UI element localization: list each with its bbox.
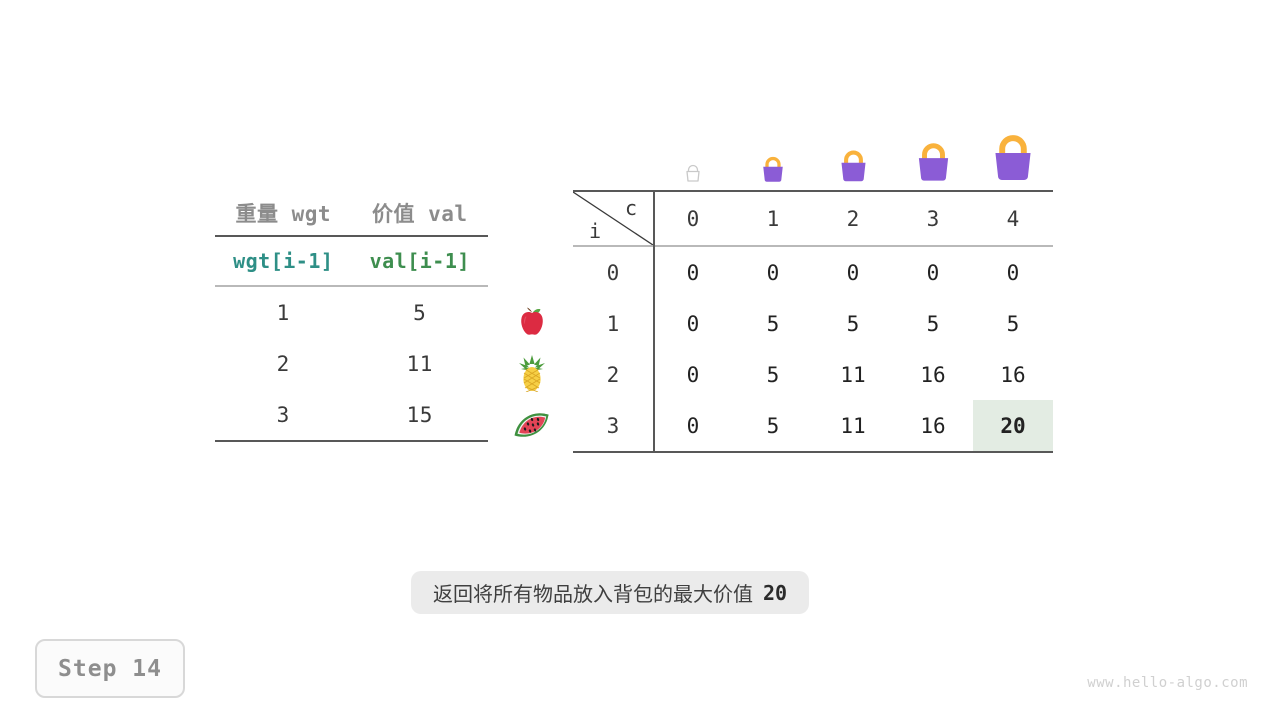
- watermark: www.hello-algo.com: [1087, 675, 1248, 691]
- item-wgt-value: 1: [215, 301, 352, 325]
- bag-icon-size-2: [813, 147, 893, 184]
- dp-cell: 0: [653, 247, 733, 298]
- dp-cell: 5: [973, 298, 1053, 349]
- dp-table-row: 2 0 5 11 16 16: [573, 349, 1053, 400]
- item-table-header-row: 重量 wgt 价值 val: [215, 190, 488, 235]
- item-fruit-column: [508, 296, 556, 449]
- dp-table-header-row: i c 0 1 2 3 4: [573, 192, 1053, 245]
- item-wgt-value: 2: [215, 352, 352, 376]
- item-table-row: 3 15: [215, 389, 488, 440]
- dp-col-header: 1: [733, 207, 813, 231]
- dp-cell: 16: [973, 349, 1053, 400]
- item-table-row: 2 11: [215, 338, 488, 389]
- item-val-value: 11: [352, 352, 489, 376]
- dp-row-header: 0: [573, 261, 653, 285]
- item-val-value: 5: [352, 301, 489, 325]
- dp-row-header: 1: [573, 312, 653, 336]
- item-table-header-val: 价值 val: [352, 198, 489, 228]
- result-caption: 返回将所有物品放入背包的最大价值 20: [411, 571, 809, 614]
- item-table-subheader-val: val[i-1]: [352, 249, 489, 273]
- dp-axis-col-label: c: [625, 196, 637, 220]
- item-table-bottom-divider: [215, 440, 488, 442]
- dp-col-header: 2: [813, 207, 893, 231]
- dp-table-row: 3 0 5 11 16 20: [573, 400, 1053, 451]
- dp-cell: 0: [973, 247, 1053, 298]
- dp-cell: 11: [813, 400, 893, 451]
- item-wgt-value: 3: [215, 403, 352, 427]
- dp-cell-highlighted: 20: [973, 400, 1053, 451]
- bag-icon-size-4: [973, 130, 1053, 184]
- pineapple-icon: [508, 347, 556, 398]
- dp-col-header: 3: [893, 207, 973, 231]
- dp-col-header: 0: [653, 207, 733, 231]
- step-badge-label: Step 14: [58, 656, 162, 682]
- dp-table-body: i c 0 1 2 3 4 0 0 0 0 0 0 1 0 5 5 5 5: [573, 192, 1053, 451]
- item-table-header-wgt: 重量 wgt: [215, 198, 352, 228]
- dp-cell: 5: [893, 298, 973, 349]
- dp-cell: 5: [733, 349, 813, 400]
- dp-table-axis-corner: i c: [573, 192, 653, 245]
- dp-table-bottom-divider: [573, 451, 1053, 453]
- dp-cell: 0: [733, 247, 813, 298]
- dp-row-header: 3: [573, 414, 653, 438]
- item-table-row: 1 5: [215, 287, 488, 338]
- result-caption-value: 20: [763, 581, 787, 605]
- dp-axis-row-label: i: [589, 219, 601, 243]
- item-table: 重量 wgt 价值 val wgt[i-1] val[i-1] 1 5 2 11…: [215, 190, 488, 442]
- dp-cell: 0: [653, 400, 733, 451]
- diagonal-divider-icon: [573, 192, 653, 245]
- dp-cell: 0: [653, 349, 733, 400]
- watermelon-icon: [508, 398, 556, 449]
- dp-table-row: 1 0 5 5 5 5: [573, 298, 1053, 349]
- item-table-subheader-row: wgt[i-1] val[i-1]: [215, 237, 488, 285]
- bag-icon-size-3: [893, 139, 973, 184]
- item-table-subheader-wgt: wgt[i-1]: [215, 249, 352, 273]
- dp-cell: 16: [893, 400, 973, 451]
- dp-col-header: 4: [973, 207, 1053, 231]
- step-badge: Step 14: [35, 639, 185, 698]
- apple-icon: [508, 296, 556, 347]
- dp-cell: 0: [813, 247, 893, 298]
- knapsack-capacity-icons: [653, 124, 1053, 184]
- item-val-value: 15: [352, 403, 489, 427]
- dp-cell: 0: [653, 298, 733, 349]
- dp-cell: 5: [733, 298, 813, 349]
- bag-icon-empty: [653, 164, 733, 184]
- dp-cell: 16: [893, 349, 973, 400]
- dp-cell: 0: [893, 247, 973, 298]
- dp-table: i c 0 1 2 3 4 0 0 0 0 0 0 1 0 5 5 5 5: [573, 190, 1053, 453]
- dp-cell: 11: [813, 349, 893, 400]
- dp-table-row: 0 0 0 0 0 0: [573, 247, 1053, 298]
- dp-cell: 5: [813, 298, 893, 349]
- result-caption-text: 返回将所有物品放入背包的最大价值: [433, 578, 753, 607]
- dp-cell: 5: [733, 400, 813, 451]
- bag-icon-size-1: [733, 154, 813, 184]
- dp-row-header: 2: [573, 363, 653, 387]
